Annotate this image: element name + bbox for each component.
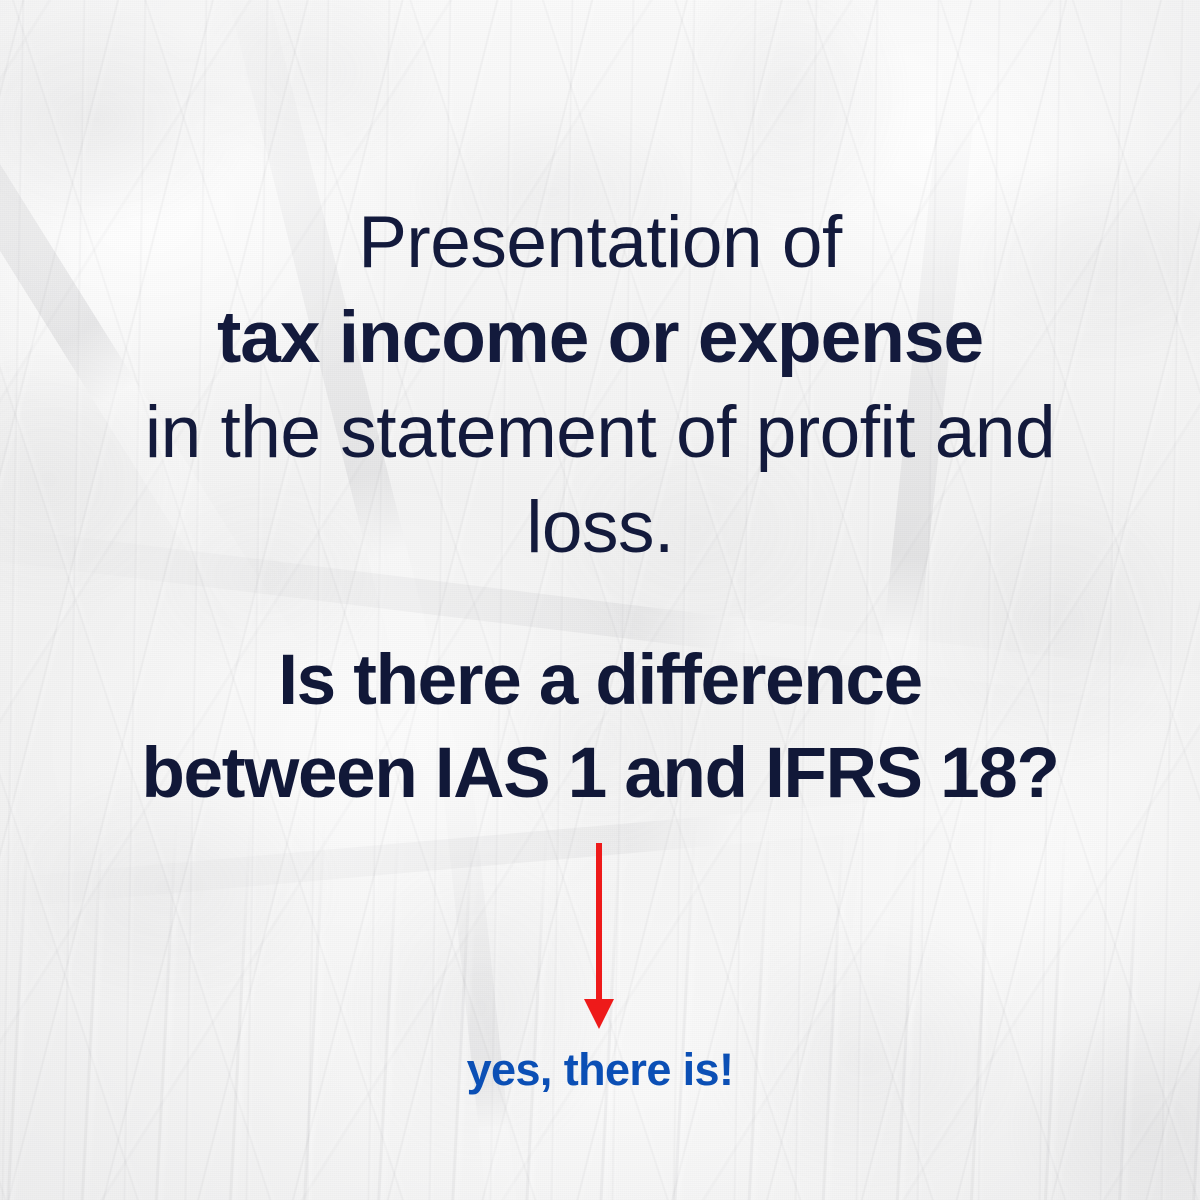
question-line-1: Is there a difference xyxy=(65,634,1135,728)
poster-content: Presentation of tax income or expense in… xyxy=(0,0,1200,1200)
arrow-head xyxy=(584,999,614,1029)
headline-line-1: Presentation of xyxy=(35,196,1165,291)
headline-block: Presentation of tax income or expense in… xyxy=(35,196,1165,576)
answer-text: yes, there is! xyxy=(0,1043,1200,1097)
headline-line-4: loss. xyxy=(35,481,1165,576)
arrow-shaft xyxy=(596,843,602,1005)
question-block: Is there a difference between IAS 1 and … xyxy=(65,634,1135,821)
arrow-down-icon xyxy=(579,843,619,1029)
headline-line-2: tax income or expense xyxy=(35,291,1165,386)
poster-canvas: Presentation of tax income or expense in… xyxy=(0,0,1200,1200)
question-line-2: between IAS 1 and IFRS 18? xyxy=(65,727,1135,821)
headline-line-3: in the statement of profit and xyxy=(35,386,1165,481)
